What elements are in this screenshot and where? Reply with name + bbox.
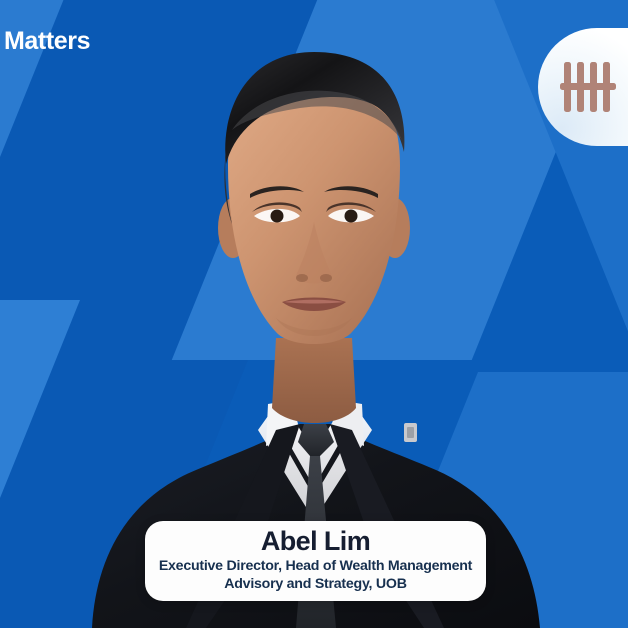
speaker-card-slide: Matters Abel Lim Executive Director, Hea…: [0, 0, 628, 628]
speaker-name-card: Abel Lim Executive Director, Head of Wea…: [145, 521, 486, 601]
speaker-title: Executive Director, Head of Wealth Manag…: [155, 558, 476, 593]
tally-mark-icon: [560, 58, 616, 116]
page-title: Matters: [4, 29, 90, 54]
speaker-name: Abel Lim: [261, 527, 370, 555]
